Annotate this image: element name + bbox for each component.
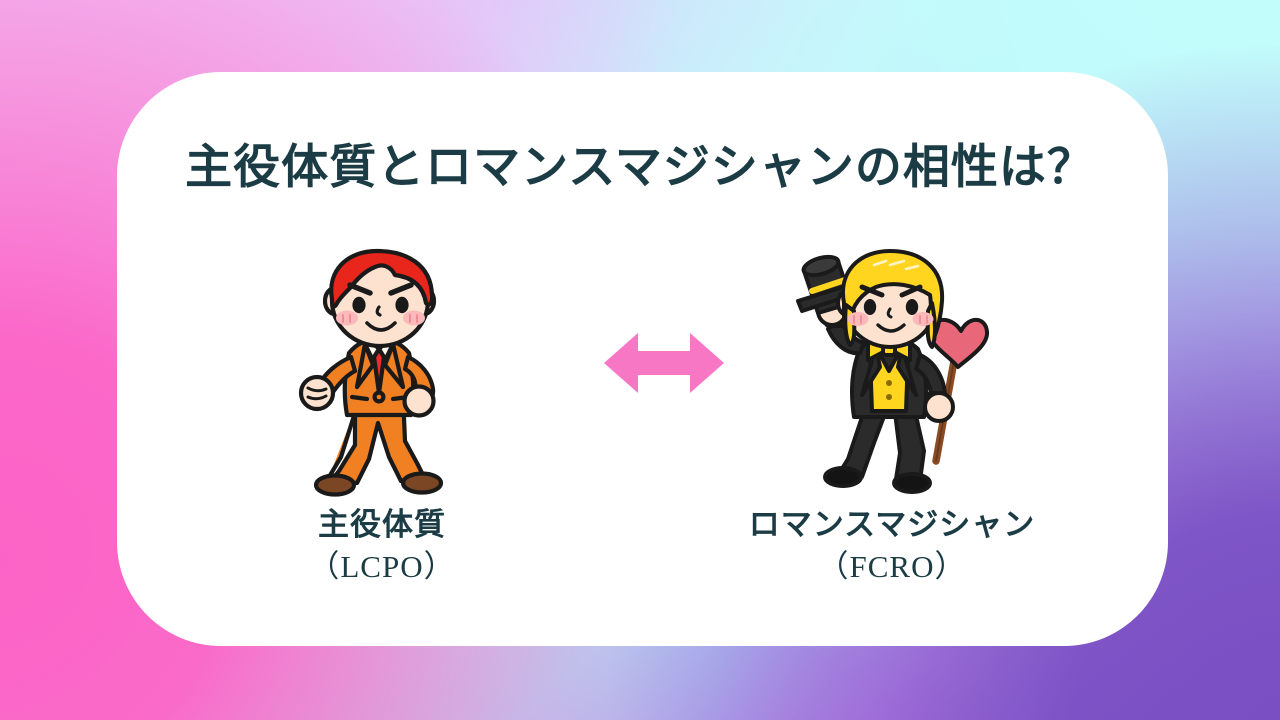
right-type-code: （FCRO）: [727, 546, 1057, 588]
right-type-name: ロマンスマジシャン: [727, 504, 1057, 546]
page-title: 主役体質とロマンスマジシャンの相性は？: [0, 140, 1280, 196]
double-headed-arrow-icon: [604, 332, 724, 394]
comparison-left-caption: 主役体質 （LCPO）: [217, 504, 547, 588]
comparison-pair: 主役体質 （LCPO）: [117, 240, 1168, 620]
confident-man-illustration: [217, 240, 547, 500]
comparison-left: 主役体質 （LCPO）: [217, 240, 547, 588]
left-type-code: （LCPO）: [217, 546, 547, 588]
comparison-right-caption: ロマンスマジシャン （FCRO）: [727, 504, 1057, 588]
magician-woman-illustration: [727, 240, 1057, 500]
poster-canvas: 主役体質とロマンスマジシャンの相性は？: [0, 0, 1280, 720]
comparison-right: ロマンスマジシャン （FCRO）: [727, 240, 1057, 588]
left-type-name: 主役体質: [217, 504, 547, 546]
